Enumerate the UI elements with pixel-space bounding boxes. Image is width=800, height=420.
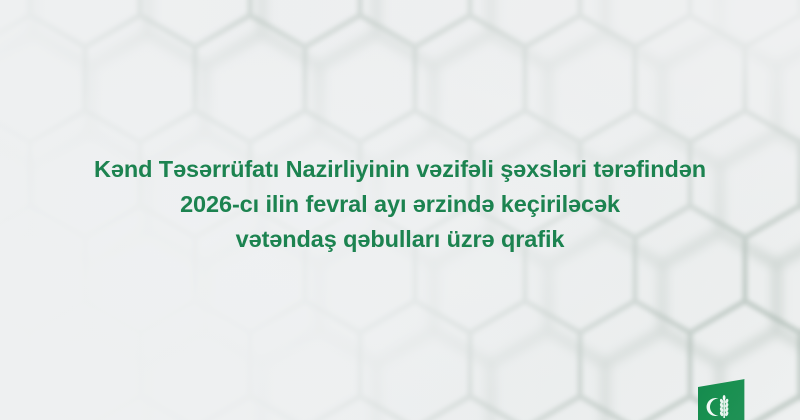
headline-line-2: 2026-cı ilin fevral ayı ərzində keçirilə… [26,187,774,222]
banner: Kənd Təsərrüfatı Nazirliyinin vəzifəli ş… [0,0,800,420]
headline: Kənd Təsərrüfatı Nazirliyinin vəzifəli ş… [0,152,800,257]
headline-line-3: vətəndaş qəbulları üzrə qrafik [26,222,774,257]
ministry-of-agriculture-logo [698,374,748,420]
headline-line-1: Kənd Təsərrüfatı Nazirliyinin vəzifəli ş… [26,152,774,187]
